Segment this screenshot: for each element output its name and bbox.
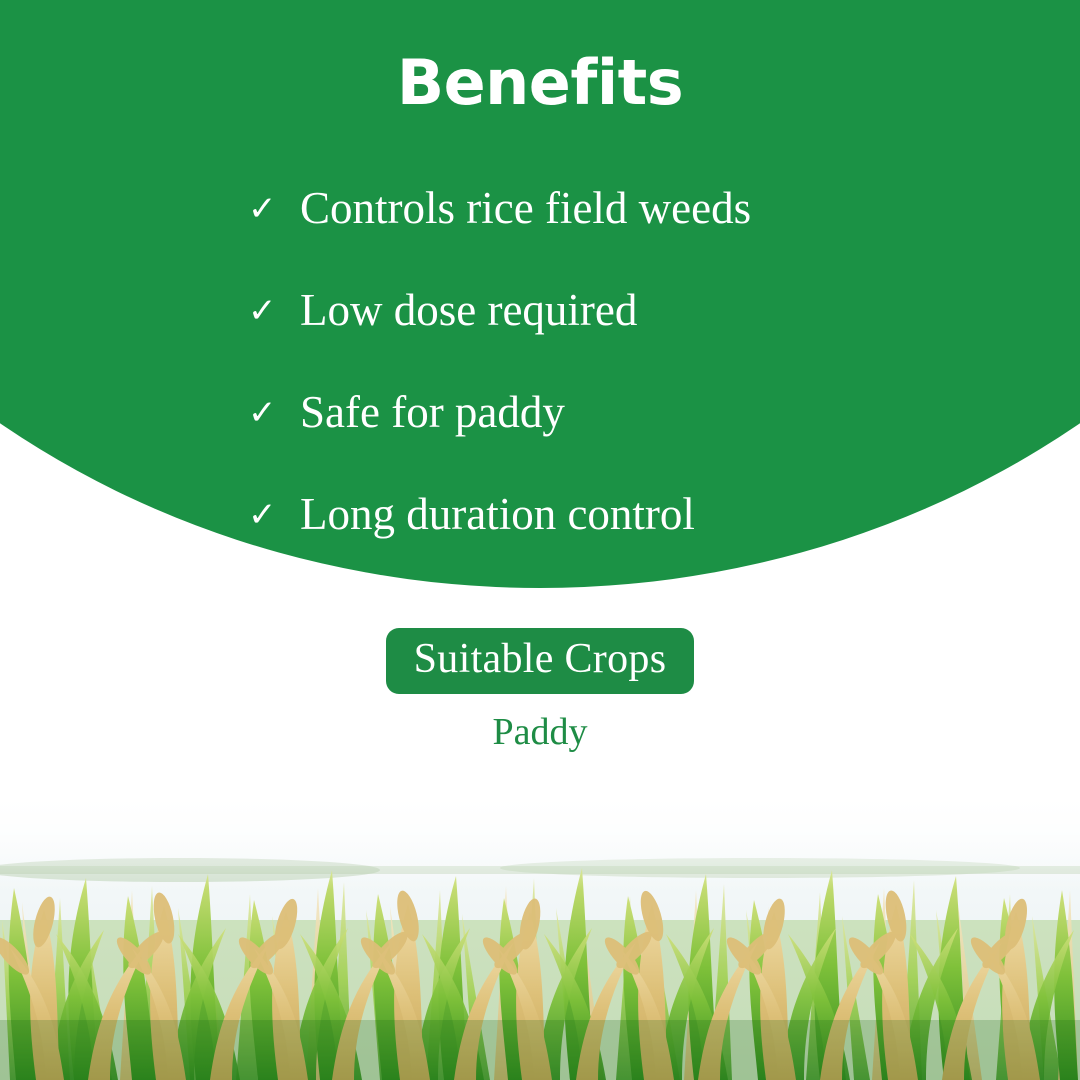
list-item: ✓ Safe for paddy xyxy=(248,362,948,464)
benefit-label: Long duration control xyxy=(300,490,695,540)
check-icon: ✓ xyxy=(248,294,300,328)
check-icon: ✓ xyxy=(248,396,300,430)
suitable-crops-section: Suitable Crops Paddy xyxy=(0,628,1080,754)
list-item: ✓ Low dose required xyxy=(248,260,948,362)
check-icon: ✓ xyxy=(248,192,300,226)
list-item: ✓ Controls rice field weeds xyxy=(248,158,948,260)
page-title: Benefits xyxy=(0,52,1080,114)
benefit-label: Low dose required xyxy=(300,286,637,336)
list-item: ✓ Long duration control xyxy=(248,464,948,566)
benefit-label: Safe for paddy xyxy=(300,388,565,438)
benefits-list: ✓ Controls rice field weeds ✓ Low dose r… xyxy=(248,158,948,566)
check-icon: ✓ xyxy=(248,498,300,532)
benefits-hero-panel: Benefits ✓ Controls rice field weeds ✓ L… xyxy=(0,0,1080,600)
suitable-crops-badge: Suitable Crops xyxy=(386,628,695,694)
rice-field-image xyxy=(0,770,1080,1080)
suitable-crops-value: Paddy xyxy=(0,712,1080,754)
benefit-label: Controls rice field weeds xyxy=(300,184,751,234)
product-benefits-card: Benefits ✓ Controls rice field weeds ✓ L… xyxy=(0,0,1080,1080)
rice-field-illustration xyxy=(0,770,1080,1080)
